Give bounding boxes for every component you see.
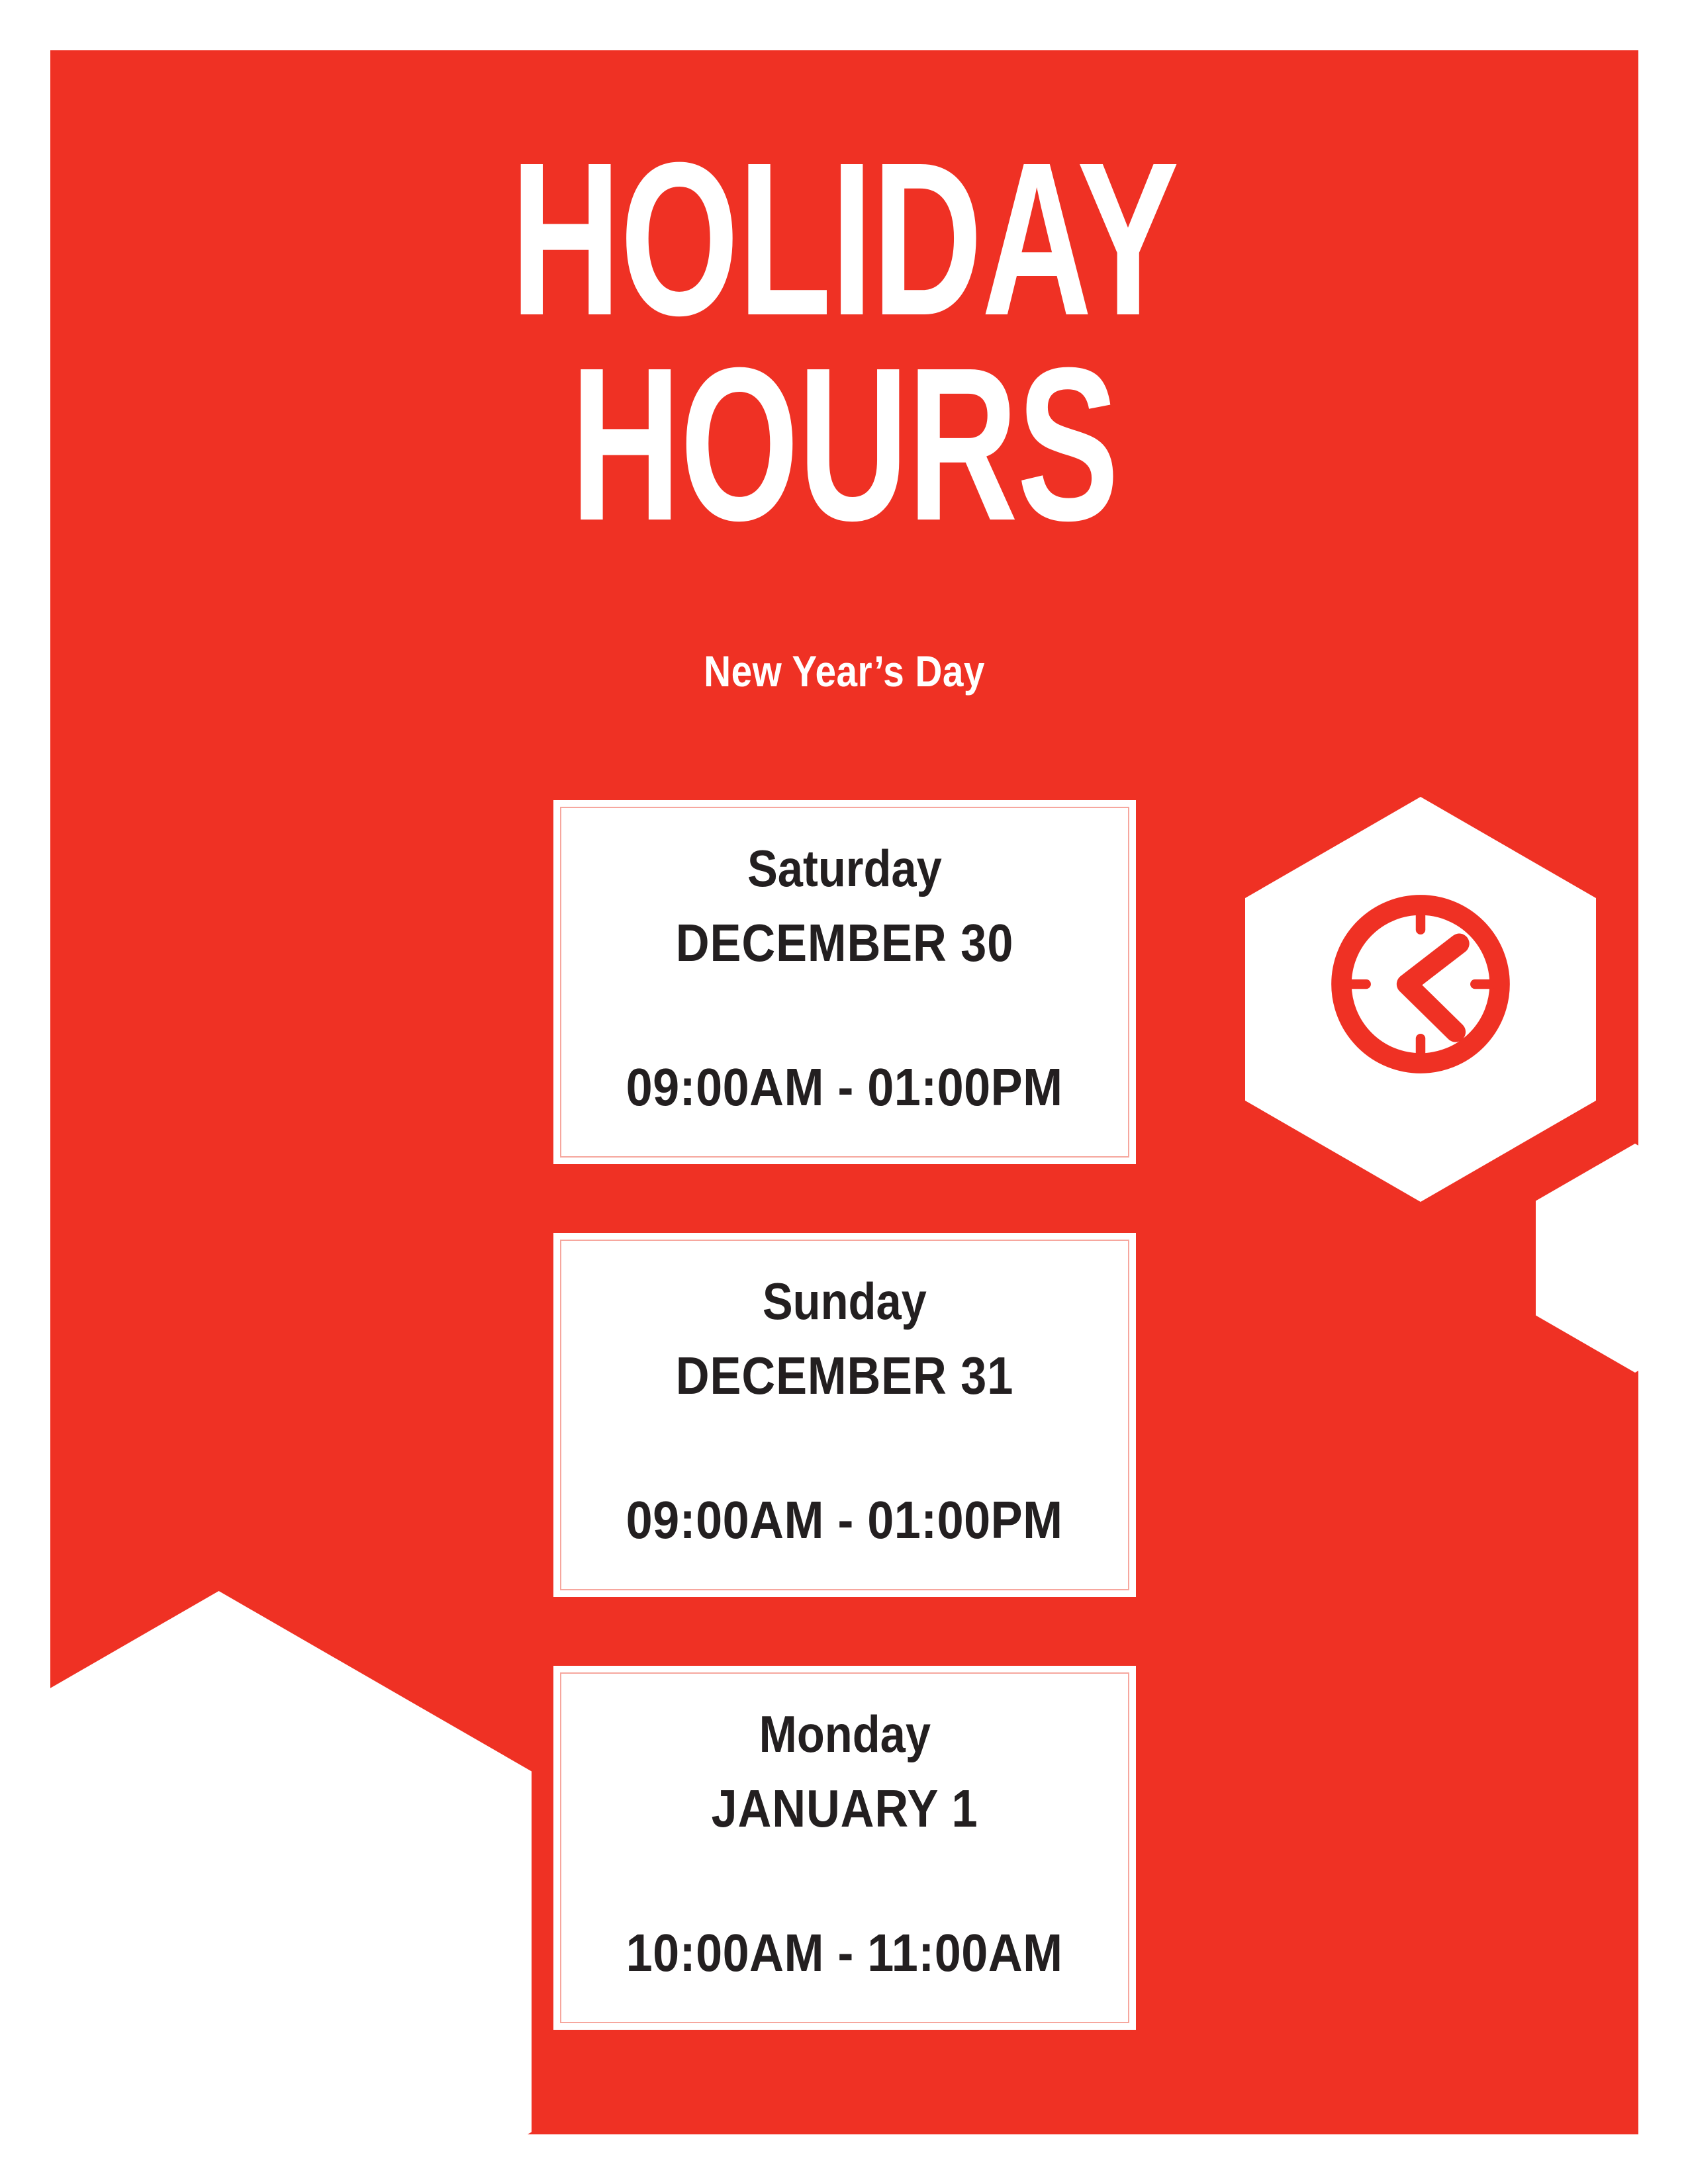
schedule-date: DECEMBER 31: [676, 1349, 1013, 1402]
hexagon-decoration-bottom-left: [50, 1591, 532, 2134]
schedule-card-inner: Sunday DECEMBER 31 09:00AM - 01:00PM: [560, 1240, 1129, 1590]
schedule-hours: 09:00AM - 01:00PM: [626, 1494, 1063, 1547]
clock-icon: [1329, 892, 1513, 1076]
schedule-weekday: Monday: [759, 1708, 930, 1760]
hexagon-decoration-small-right: [1536, 1144, 1638, 1373]
schedule-card[interactable]: Saturday DECEMBER 30 09:00AM - 01:00PM: [553, 800, 1136, 1164]
schedule-card[interactable]: Monday JANUARY 1 10:00AM - 11:00AM: [553, 1666, 1136, 2030]
title-line-hours: HOURS: [289, 341, 1400, 547]
holiday-hours-poster: HOLIDAY HOURS New Year’s Day Saturday: [0, 0, 1688, 2184]
schedule-list: Saturday DECEMBER 30 09:00AM - 01:00PM S…: [553, 800, 1136, 2030]
red-background-panel: HOLIDAY HOURS New Year’s Day Saturday: [50, 50, 1638, 2134]
schedule-card-inner: Monday JANUARY 1 10:00AM - 11:00AM: [560, 1672, 1129, 2023]
schedule-date: DECEMBER 30: [676, 917, 1013, 970]
subtitle: New Year’s Day: [162, 646, 1527, 696]
title-line-holiday: HOLIDAY: [289, 136, 1400, 341]
schedule-weekday: Sunday: [763, 1275, 927, 1327]
schedule-weekday: Saturday: [747, 842, 942, 894]
page-title: HOLIDAY HOURS: [50, 136, 1638, 547]
schedule-card-inner: Saturday DECEMBER 30 09:00AM - 01:00PM: [560, 807, 1129, 1158]
schedule-card[interactable]: Sunday DECEMBER 31 09:00AM - 01:00PM: [553, 1233, 1136, 1597]
schedule-hours: 10:00AM - 11:00AM: [626, 1927, 1063, 1979]
schedule-date: JANUARY 1: [711, 1782, 978, 1835]
schedule-hours: 09:00AM - 01:00PM: [626, 1061, 1063, 1114]
